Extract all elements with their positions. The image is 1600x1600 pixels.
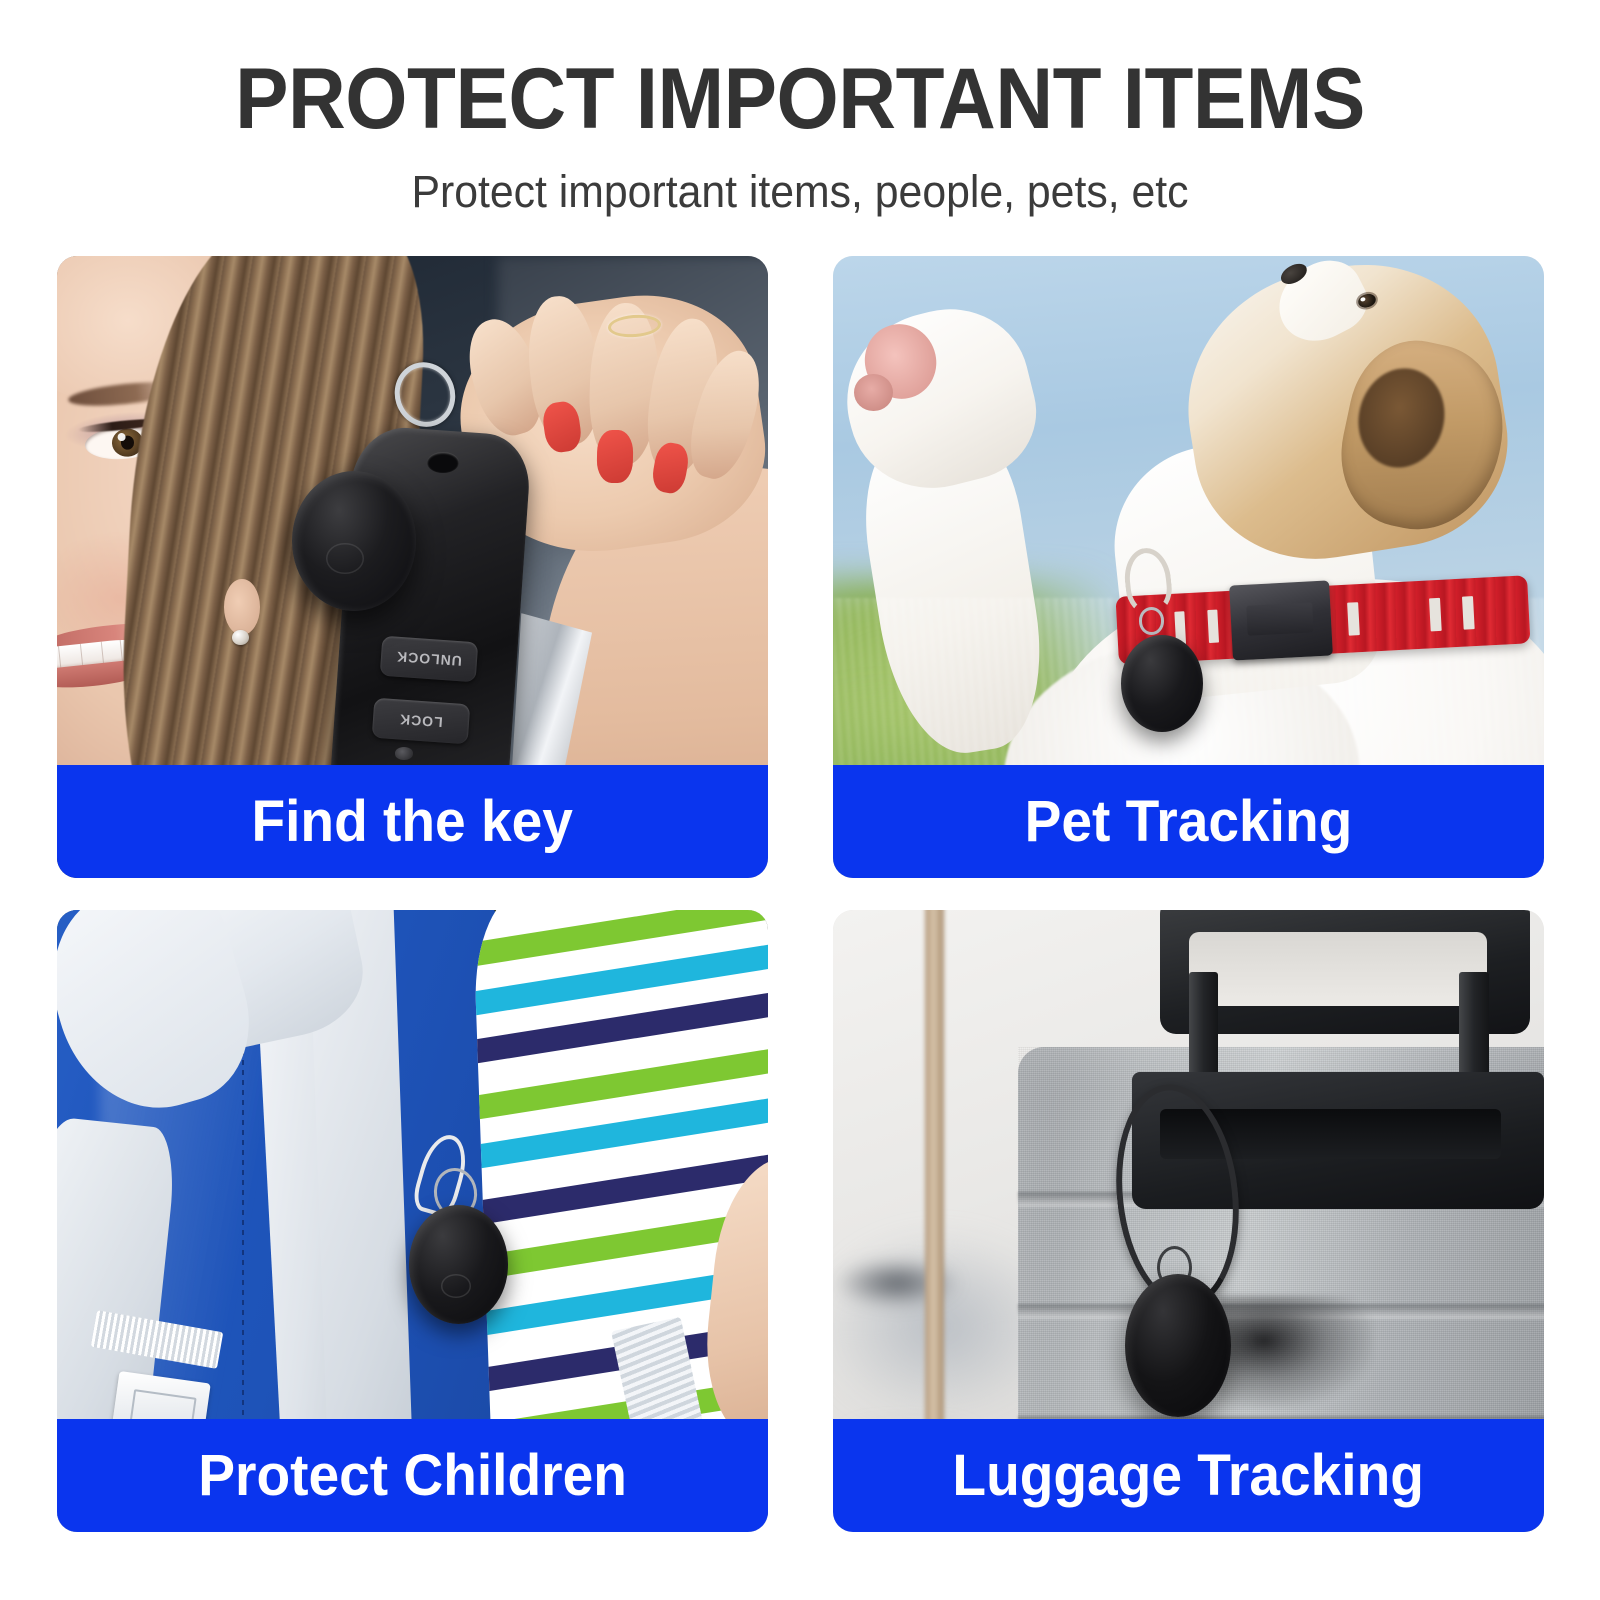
header: PROTECT IMPORTANT ITEMS Protect importan… — [0, 0, 1600, 218]
bluetooth-tracker-tag — [1121, 635, 1203, 731]
card-label-bar-protect-children: Protect Children — [57, 1419, 768, 1532]
feature-card-find-the-key[interactable]: UNLOCK LOCK Find the key — [57, 256, 768, 878]
card-label-find-the-key: Find the key — [252, 788, 573, 855]
card-label-bar-find-the-key: Find the key — [57, 765, 768, 878]
page-subtitle: Protect important items, people, pets, e… — [40, 166, 1560, 218]
card-label-bar-luggage-tracking: Luggage Tracking — [833, 1419, 1544, 1532]
card-label-pet-tracking: Pet Tracking — [1025, 788, 1353, 855]
collar-buckle — [1229, 580, 1332, 660]
fob-unlock-label: UNLOCK — [395, 648, 462, 669]
fob-lock-label: LOCK — [399, 711, 444, 730]
fob-led-indicator — [395, 747, 413, 759]
page-title: PROTECT IMPORTANT ITEMS — [56, 56, 1544, 144]
fob-lock-button: LOCK — [372, 697, 471, 743]
card-label-bar-pet-tracking: Pet Tracking — [833, 765, 1544, 878]
fob-unlock-button: UNLOCK — [379, 635, 478, 681]
feature-card-luggage-tracking[interactable]: Luggage Tracking — [833, 910, 1544, 1532]
bluetooth-tracker-tag — [1125, 1274, 1232, 1417]
bluetooth-tracker-tag — [409, 1205, 509, 1323]
product-feature-banner: PROTECT IMPORTANT ITEMS Protect importan… — [0, 0, 1600, 1600]
feature-card-protect-children[interactable]: Protect Children — [57, 910, 768, 1532]
card-label-protect-children: Protect Children — [198, 1442, 627, 1509]
bluetooth-tracker-tag — [292, 471, 416, 611]
tag-ring — [1139, 607, 1165, 634]
feature-card-pet-tracking[interactable]: Pet Tracking — [833, 256, 1544, 878]
card-label-luggage-tracking: Luggage Tracking — [953, 1442, 1425, 1509]
feature-card-grid: UNLOCK LOCK Find the key — [57, 256, 1544, 1532]
